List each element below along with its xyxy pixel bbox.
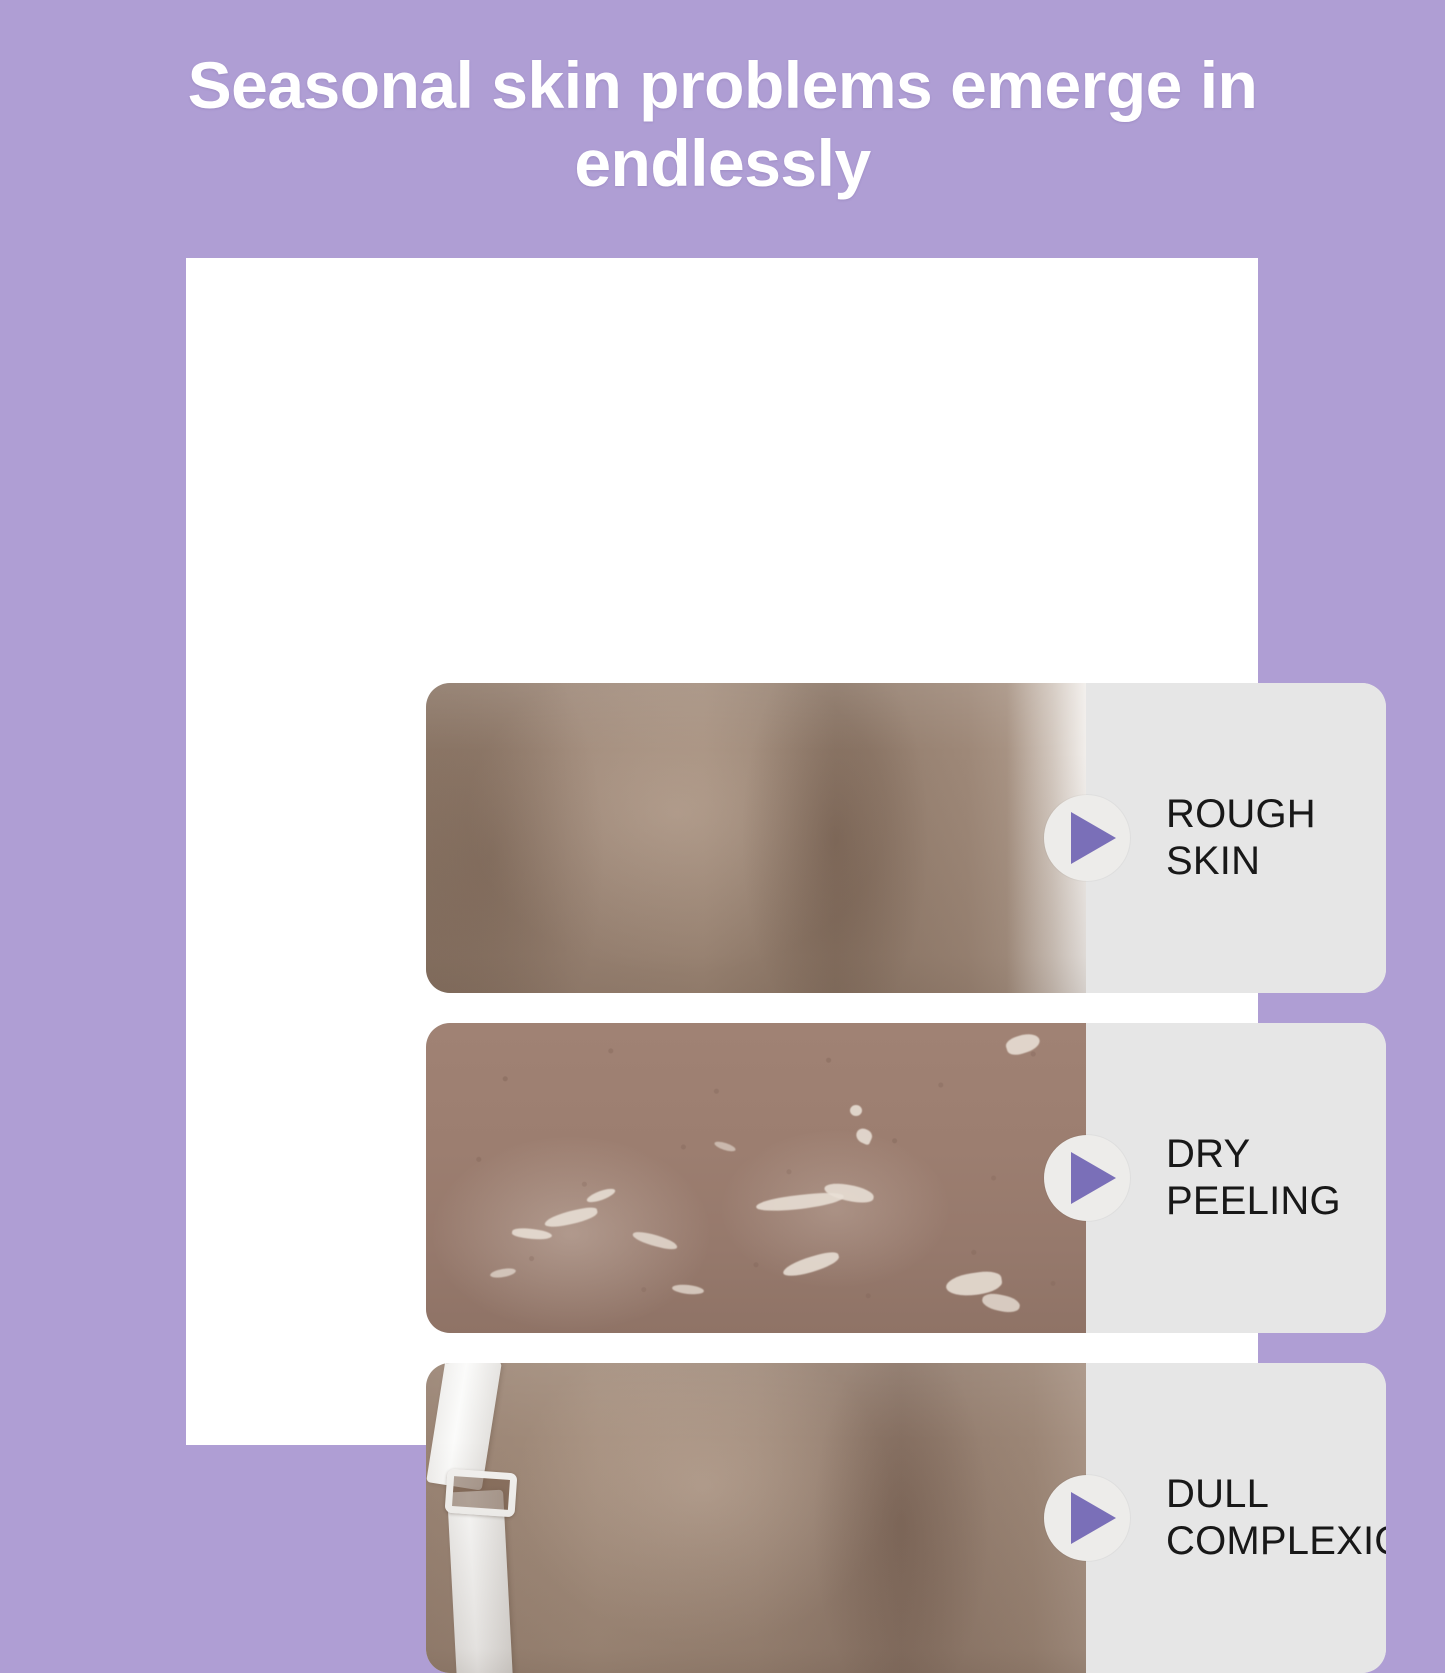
bra-strap-lower <box>447 1490 513 1673</box>
skin-flake <box>781 1249 841 1279</box>
play-triangle-icon[interactable] <box>1044 795 1130 881</box>
skin-flake <box>585 1186 616 1205</box>
skin-flake <box>854 1126 874 1145</box>
problem-label-dry-peeling: DRY PEELING <box>1166 1131 1386 1225</box>
bra-strap-adjuster-ring <box>445 1469 518 1518</box>
skin-flake <box>631 1230 678 1252</box>
triangle-glyph <box>1071 812 1116 864</box>
problem-label-rough-skin: ROUGH SKIN <box>1166 791 1386 885</box>
skin-flake <box>713 1140 736 1153</box>
skin-flake <box>1004 1030 1042 1058</box>
skin-flake <box>672 1283 705 1295</box>
problem-label-dull-complexion: DULL COMPLEXIOR <box>1166 1471 1386 1565</box>
triangle-glyph <box>1071 1152 1116 1204</box>
skin-flake <box>981 1291 1021 1315</box>
skin-texture-peeling <box>426 1023 1086 1333</box>
skin-texture-smooth <box>426 683 1086 993</box>
problem-row-dull-complexion[interactable]: DULL COMPLEXIOR <box>426 1363 1386 1673</box>
skin-texture-dull <box>426 1363 1086 1673</box>
skin-flake <box>511 1226 552 1241</box>
problem-row-dry-peeling[interactable]: DRY PEELING <box>426 1023 1386 1333</box>
skin-flake <box>543 1206 599 1230</box>
problem-photo-dry-peeling <box>426 1023 1086 1333</box>
triangle-glyph <box>1071 1492 1116 1544</box>
play-triangle-icon[interactable] <box>1044 1475 1130 1561</box>
bra-strap-upper <box>426 1363 502 1491</box>
problem-photo-dull-complexion <box>426 1363 1086 1673</box>
content-panel: ROUGH SKIN <box>186 258 1258 1445</box>
problem-row-rough-skin[interactable]: ROUGH SKIN <box>426 683 1386 993</box>
poster-root: Seasonal skin problems emerge in endless… <box>0 0 1445 1445</box>
problem-photo-rough-skin <box>426 683 1086 993</box>
page-title: Seasonal skin problems emerge in endless… <box>72 46 1373 202</box>
play-triangle-icon[interactable] <box>1044 1135 1130 1221</box>
skin-flake <box>490 1267 517 1279</box>
skin-flake <box>850 1105 862 1116</box>
